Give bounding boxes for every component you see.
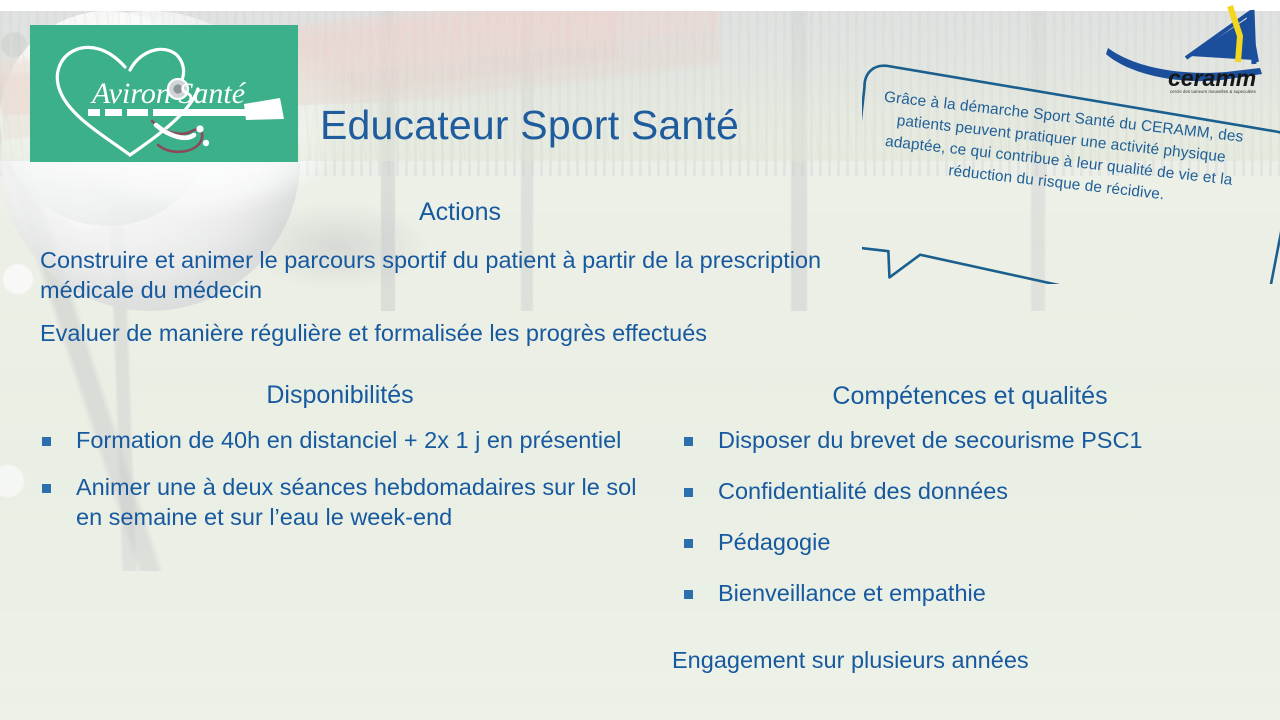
presentation-slide: Aviron Santé ceramm cercle des tumeurs m…	[0, 0, 1280, 720]
speech-bubble: Grâce à la démarche Sport Santé du CERAM…	[862, 34, 1280, 284]
list-item-label: Animer une à deux séances hebdomadaires …	[76, 474, 636, 530]
aviron-sante-logo: Aviron Santé	[30, 25, 298, 162]
list-item: Bienveillance et empathie	[672, 578, 1272, 608]
list-item: Confidentialité des données	[672, 476, 1272, 506]
section-heading-actions: Actions	[210, 198, 710, 227]
list-item: Disposer du brevet de secourisme PSC1	[672, 425, 1272, 455]
disponibilites-bullet-list: Formation de 40h en distanciel + 2x 1 j …	[30, 425, 640, 549]
list-item: Animer une à deux séances hebdomadaires …	[30, 472, 640, 532]
square-bullet-icon	[684, 437, 693, 446]
competences-footer-text: Engagement sur plusieurs années	[672, 645, 1272, 675]
list-item-label: Formation de 40h en distanciel + 2x 1 j …	[76, 427, 621, 453]
square-bullet-icon	[42, 437, 51, 446]
square-bullet-icon	[684, 488, 693, 497]
list-item: Pédagogie	[672, 527, 1272, 557]
page-title: Educateur Sport Santé	[320, 103, 820, 149]
list-item-label: Confidentialité des données	[718, 478, 1008, 504]
square-bullet-icon	[684, 590, 693, 599]
competences-bullet-list: Disposer du brevet de secourisme PSC1 Co…	[672, 425, 1272, 629]
aviron-logo-wordmark: Aviron Santé	[90, 77, 247, 110]
section-heading-disponibilites: Disponibilités	[30, 381, 650, 410]
list-item-label: Disposer du brevet de secourisme PSC1	[718, 427, 1143, 453]
actions-paragraph-2: Evaluer de manière régulière et formalis…	[40, 318, 910, 348]
section-heading-competences: Compétences et qualités	[660, 382, 1280, 411]
square-bullet-icon	[42, 484, 51, 493]
list-item-label: Bienveillance et empathie	[718, 580, 986, 606]
list-item-label: Pédagogie	[718, 529, 830, 555]
square-bullet-icon	[684, 539, 693, 548]
list-item: Formation de 40h en distanciel + 2x 1 j …	[30, 425, 640, 455]
actions-paragraph-1: Construire et animer le parcours sportif…	[40, 245, 870, 305]
